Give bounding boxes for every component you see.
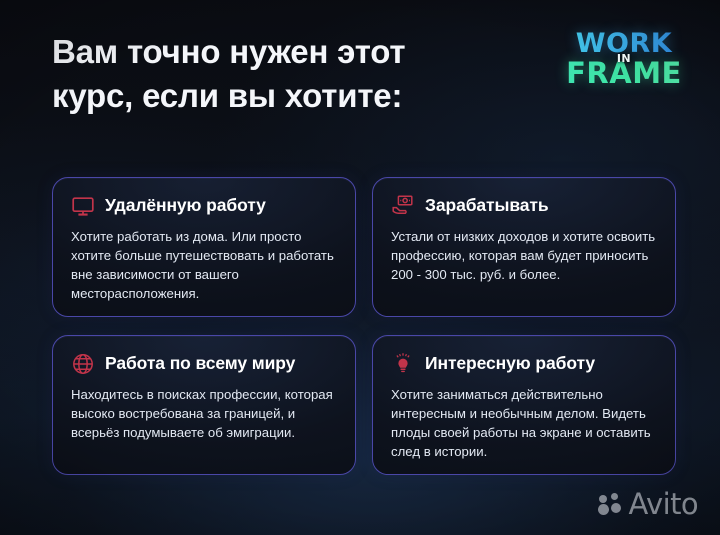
- card-description: Находитесь в поисках профессии, которая …: [71, 385, 337, 442]
- benefit-card-remote-work: Удалённую работу Хотите работать из дома…: [52, 177, 356, 317]
- lightbulb-icon: [391, 352, 415, 376]
- avito-logo-icon: [598, 493, 622, 517]
- hand-money-icon: [391, 194, 415, 218]
- avito-wordmark: Avito: [629, 490, 698, 519]
- benefit-card-interesting-work: Интересную работу Хотите заниматься дейс…: [372, 335, 676, 475]
- benefit-card-worldwide: Работа по всему миру Находитесь в поиска…: [52, 335, 356, 475]
- benefit-card-grid: Удалённую работу Хотите работать из дома…: [52, 177, 676, 475]
- card-description: Хотите работать из дома. Или просто хоти…: [71, 227, 337, 304]
- card-description: Хотите заниматься действительно интересн…: [391, 385, 657, 462]
- globe-icon: [71, 352, 95, 376]
- avito-watermark: Avito: [598, 490, 698, 519]
- logo-word-in: IN: [617, 52, 631, 65]
- page-title: Вам точно нужен этот курс, если вы хотит…: [52, 30, 522, 117]
- card-header: Работа по всему миру: [71, 352, 337, 376]
- card-header: Интересную работу: [391, 352, 657, 376]
- page-title-line-1: Вам точно нужен этот: [52, 30, 522, 74]
- card-title: Зарабатывать: [425, 196, 549, 215]
- card-title: Работа по всему миру: [105, 354, 295, 373]
- card-header: Зарабатывать: [391, 194, 657, 218]
- promo-banner: Вам точно нужен этот курс, если вы хотит…: [0, 0, 720, 535]
- card-title: Удалённую работу: [105, 196, 266, 215]
- page-title-line-2: курс, если вы хотите:: [52, 74, 522, 118]
- card-header: Удалённую работу: [71, 194, 337, 218]
- brand-logo: WORK IN FRAME: [560, 30, 688, 96]
- monitor-icon: [71, 194, 95, 218]
- card-title: Интересную работу: [425, 354, 595, 373]
- card-description: Устали от низких доходов и хотите освоит…: [391, 227, 657, 284]
- benefit-card-earnings: Зарабатывать Устали от низких доходов и …: [372, 177, 676, 317]
